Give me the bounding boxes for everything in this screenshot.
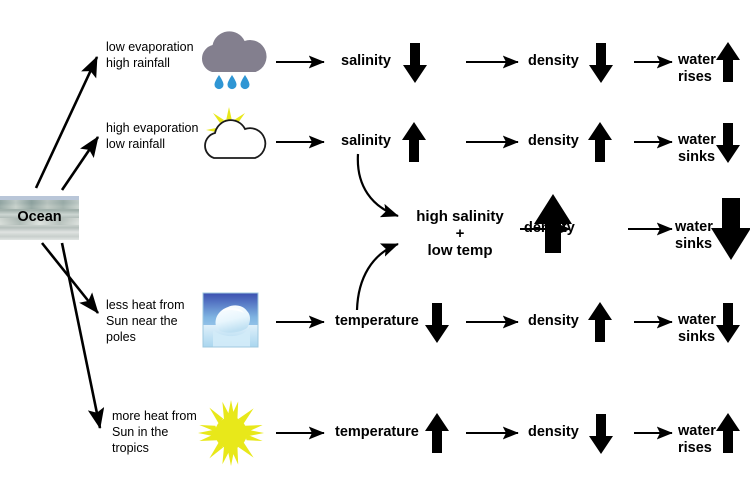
ocean-branch-arrows bbox=[36, 57, 100, 428]
node-temperature-r4: temperature bbox=[335, 313, 419, 330]
condition-label-more-heat: more heat from Sun in the tropics bbox=[112, 408, 217, 456]
temperature-down-arrow-r4 bbox=[425, 303, 449, 343]
node-density-r4: density bbox=[528, 313, 579, 330]
condition-label-less-heat: less heat from Sun near the poles bbox=[106, 297, 211, 345]
iceberg-icon bbox=[203, 293, 258, 347]
node-density-r1: density bbox=[528, 53, 579, 70]
condition-label-high-evaporation: high evaporation low rainfall bbox=[106, 120, 221, 152]
node-density-r2: density bbox=[528, 133, 579, 150]
node-outcome-r3: water sinks bbox=[675, 219, 723, 253]
node-outcome-r1: water rises bbox=[678, 52, 726, 86]
node-high-salinity-low-temp: high salinity + low temp bbox=[400, 208, 520, 259]
density-down-arrow-r1 bbox=[589, 43, 613, 83]
node-salinity-r2: salinity bbox=[341, 133, 391, 150]
density-up-arrow-r4 bbox=[588, 302, 612, 342]
ocean-image[interactable]: Ocean bbox=[0, 196, 79, 240]
node-outcome-r4: water sinks bbox=[678, 312, 726, 346]
salinity-up-arrow-r2 bbox=[402, 122, 426, 162]
node-outcome-r2: water sinks bbox=[678, 132, 726, 166]
temperature-up-arrow-r5 bbox=[425, 413, 449, 453]
node-temperature-r5: temperature bbox=[335, 424, 419, 441]
density-down-arrow-r5 bbox=[589, 414, 613, 454]
node-density-r3: density bbox=[524, 220, 575, 237]
diagram-canvas: Ocean low evaporation high rainfall sali… bbox=[0, 0, 750, 500]
ocean-label: Ocean bbox=[0, 209, 79, 225]
node-density-r5: density bbox=[528, 424, 579, 441]
condition-label-low-evaporation: low evaporation high rainfall bbox=[106, 39, 216, 71]
density-up-arrow-r2 bbox=[588, 122, 612, 162]
curved-merge-arrows bbox=[357, 154, 398, 310]
node-salinity-r1: salinity bbox=[341, 53, 391, 70]
salinity-down-arrow-r1 bbox=[403, 43, 427, 83]
node-outcome-r5: water rises bbox=[678, 423, 726, 457]
